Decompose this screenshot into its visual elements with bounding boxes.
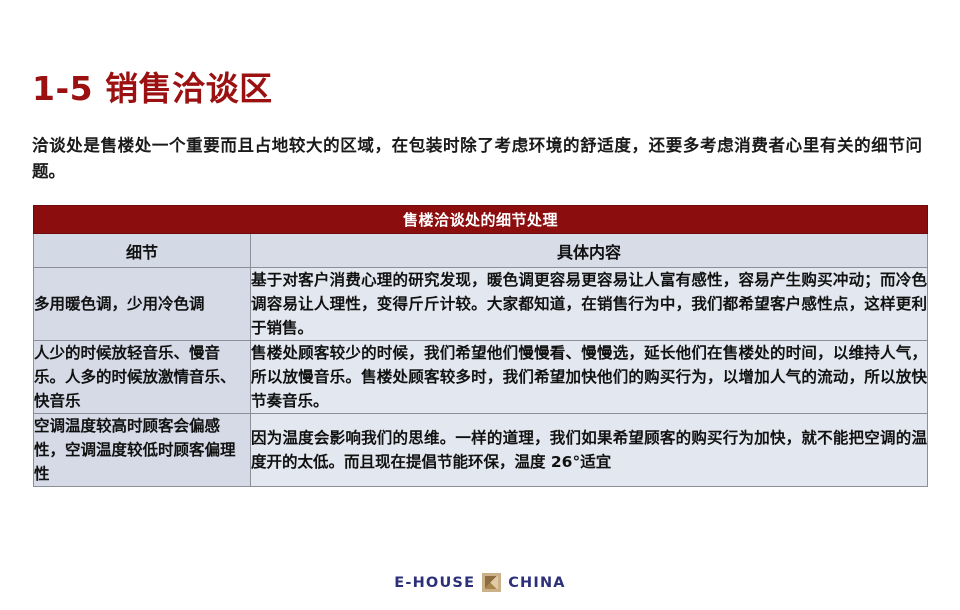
footer-logo: E-HOUSE CHINA <box>0 573 960 592</box>
table-banner-row: 售楼洽谈处的细节处理 <box>34 206 928 234</box>
column-header-detail: 细节 <box>34 234 251 268</box>
row-value-music: 售楼处顾客较少的时候，我们希望他们慢慢看、慢慢选，延长他们在售楼处的时间，以维持… <box>251 341 928 414</box>
column-header-content: 具体内容 <box>251 234 928 268</box>
intro-paragraph: 洽谈处是售楼处一个重要而且占地较大的区域，在包装时除了考虑环境的舒适度，还要多考… <box>32 133 922 185</box>
row-value-temperature: 因为温度会影响我们的思维。一样的道理，我们如果希望顾客的购买行为加快，就不能把空… <box>251 414 928 487</box>
table-row: 多用暖色调，少用冷色调 基于对客户消费心理的研究发现，暖色调更容易更容易让人富有… <box>34 268 928 341</box>
brand-text-left: E-HOUSE <box>394 575 475 591</box>
row-key-temperature: 空调温度较高时顾客会偏感性，空调温度较低时顾客偏理性 <box>34 414 251 487</box>
table-row: 人少的时候放轻音乐、慢音乐。人多的时候放激情音乐、快音乐 售楼处顾客较少的时候，… <box>34 341 928 414</box>
detail-table: 售楼洽谈处的细节处理 细节 具体内容 多用暖色调，少用冷色调 基于对客户消费心理… <box>33 205 928 487</box>
detail-table-wrapper: 售楼洽谈处的细节处理 细节 具体内容 多用暖色调，少用冷色调 基于对客户消费心理… <box>33 205 928 487</box>
page-title: 1-5 销售洽谈区 <box>32 62 273 110</box>
row-key-color-tone: 多用暖色调，少用冷色调 <box>34 268 251 341</box>
table-row: 空调温度较高时顾客会偏感性，空调温度较低时顾客偏理性 因为温度会影响我们的思维。… <box>34 414 928 487</box>
table-banner-title: 售楼洽谈处的细节处理 <box>34 206 928 234</box>
row-value-color-tone: 基于对客户消费心理的研究发现，暖色调更容易更容易让人富有感性，容易产生购买冲动；… <box>251 268 928 341</box>
row-key-music: 人少的时候放轻音乐、慢音乐。人多的时候放激情音乐、快音乐 <box>34 341 251 414</box>
brand-mark-icon <box>482 573 501 592</box>
brand-text-right: CHINA <box>508 575 566 591</box>
table-header-row: 细节 具体内容 <box>34 234 928 268</box>
slide-canvas: 1-5 销售洽谈区 洽谈处是售楼处一个重要而且占地较大的区域，在包装时除了考虑环… <box>0 0 960 610</box>
